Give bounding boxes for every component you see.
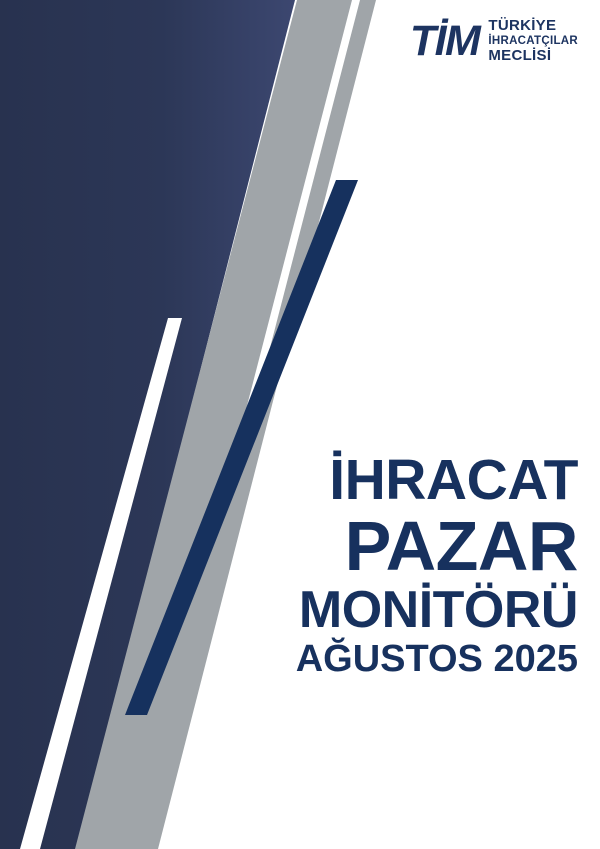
- tim-logo-line-ihracatcilar: İHRACATÇILAR: [488, 35, 578, 48]
- tim-logo-line-meclisi: MECLİSİ: [488, 48, 578, 65]
- tim-logo-line-turkiye: TÜRKİYE: [488, 18, 578, 35]
- tim-logo: TİM TÜRKİYE İHRACATÇILAR MECLİSİ: [410, 18, 578, 65]
- title-line-ihracat: İHRACAT: [0, 452, 578, 509]
- title-line-monitoru: MONİTÖRÜ: [0, 584, 578, 636]
- cover-subtitle-date: AĞUSTOS 2025: [0, 640, 578, 678]
- title-line-pazar: PAZAR: [0, 511, 578, 581]
- tim-logo-wordmark: TÜRKİYE İHRACATÇILAR MECLİSİ: [488, 18, 578, 65]
- cover-background-graphic: [0, 0, 600, 849]
- tim-logo-mark: TİM: [410, 21, 480, 62]
- cover-title: İHRACAT PAZAR MONİTÖRÜ: [0, 452, 578, 636]
- report-cover: TİM TÜRKİYE İHRACATÇILAR MECLİSİ İHRACAT…: [0, 0, 600, 849]
